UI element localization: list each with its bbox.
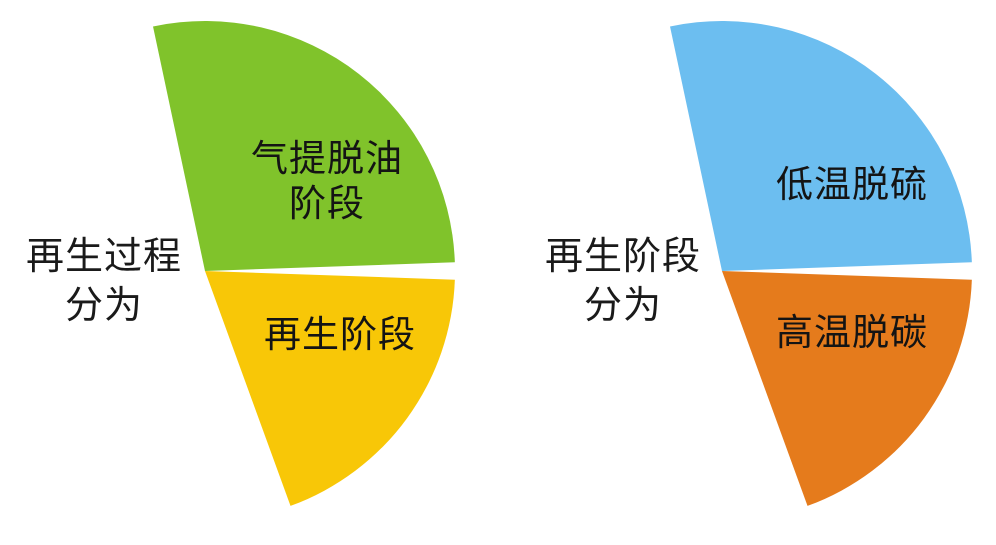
- diagram-canvas: 再生过程 分为 再生阶段 分为 气提脱油 阶段 再生阶段 低温脱硫 高温脱碳: [0, 0, 996, 545]
- pie-slice-high-temperature-decarbonization[interactable]: [722, 271, 972, 506]
- pie-slice-regeneration-stage[interactable]: [205, 271, 455, 506]
- caption-right: 再生阶段 分为: [527, 233, 719, 332]
- caption-left: 再生过程 分为: [8, 233, 200, 332]
